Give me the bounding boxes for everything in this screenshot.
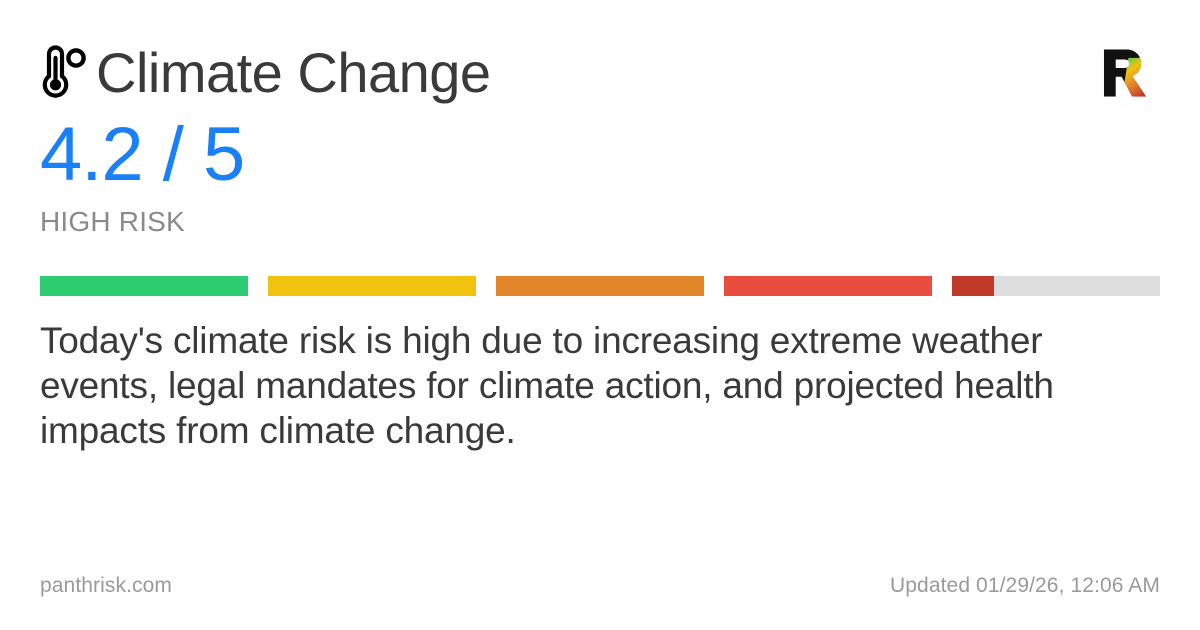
risk-meter-segment-1-low <box>40 276 248 296</box>
risk-meter-segment-2-moderate <box>268 276 476 296</box>
header: Climate Change <box>40 40 1160 103</box>
risk-level-label: HIGH RISK <box>40 207 1160 238</box>
risk-meter-segment-5-severe <box>952 276 1160 296</box>
risk-meter-segment-4-high <box>724 276 932 296</box>
risk-meter-segment-fill <box>952 276 994 296</box>
risk-meter-segment-fill <box>40 276 248 296</box>
page-title: Climate Change <box>40 44 491 103</box>
risk-meter <box>40 276 1160 296</box>
updated-timestamp: Updated 01/29/26, 12:06 AM <box>890 574 1160 598</box>
panth-risk-logo-icon <box>1098 46 1152 100</box>
thermometer-icon <box>40 44 86 102</box>
risk-score: 4.2 / 5 <box>40 117 1160 193</box>
footer: panthrisk.com Updated 01/29/26, 12:06 AM <box>40 574 1160 598</box>
risk-meter-segment-fill <box>496 276 704 296</box>
risk-meter-segment-fill <box>268 276 476 296</box>
risk-meter-segment-3-elevated <box>496 276 704 296</box>
risk-meter-segment-fill <box>724 276 932 296</box>
site-url: panthrisk.com <box>40 574 172 598</box>
page-title-text: Climate Change <box>96 44 491 103</box>
risk-summary-card: Climate Change 4.2 / 5 HIGH RISK <box>0 0 1200 630</box>
risk-description: Today's climate risk is high due to incr… <box>40 318 1085 453</box>
